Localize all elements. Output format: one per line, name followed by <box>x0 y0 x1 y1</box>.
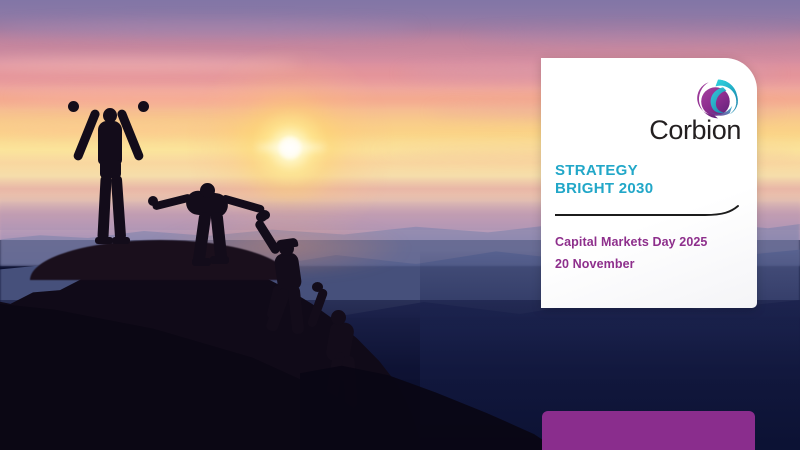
climber-head <box>200 183 215 198</box>
title-slide: Corbion STRATEGY BRIGHT 2030 Capital Mar… <box>0 0 800 450</box>
climber-foot <box>192 258 211 266</box>
event-details: Capital Markets Day 2025 20 November <box>555 232 741 275</box>
title-card: Corbion STRATEGY BRIGHT 2030 Capital Mar… <box>541 58 757 308</box>
climber-fist <box>138 101 149 112</box>
brand-logo: Corbion <box>555 72 741 144</box>
climber-hand <box>148 196 158 206</box>
climber-torso <box>98 121 122 165</box>
event-date: 20 November <box>555 254 741 276</box>
divider <box>555 204 741 220</box>
sun-streak <box>256 144 326 151</box>
logo-lockup: Corbion <box>649 78 741 144</box>
climber-hand <box>312 282 323 292</box>
climber-fist <box>68 101 79 112</box>
purple-accent-bar <box>542 411 755 450</box>
climber-hand <box>256 212 267 222</box>
climber-foot <box>112 237 130 244</box>
climber-foot <box>95 237 113 244</box>
climber-head <box>331 310 346 325</box>
strategy-title: STRATEGY BRIGHT 2030 <box>555 162 741 197</box>
event-name: Capital Markets Day 2025 <box>555 232 741 254</box>
strategy-title-line-2: BRIGHT 2030 <box>555 180 741 198</box>
climber-foot <box>210 256 229 264</box>
corbion-swirl-logo-icon <box>697 78 739 120</box>
curved-underline-rule-icon <box>555 204 741 220</box>
logo-wordmark: Corbion <box>649 117 741 144</box>
strategy-title-line-1: STRATEGY <box>555 162 741 180</box>
